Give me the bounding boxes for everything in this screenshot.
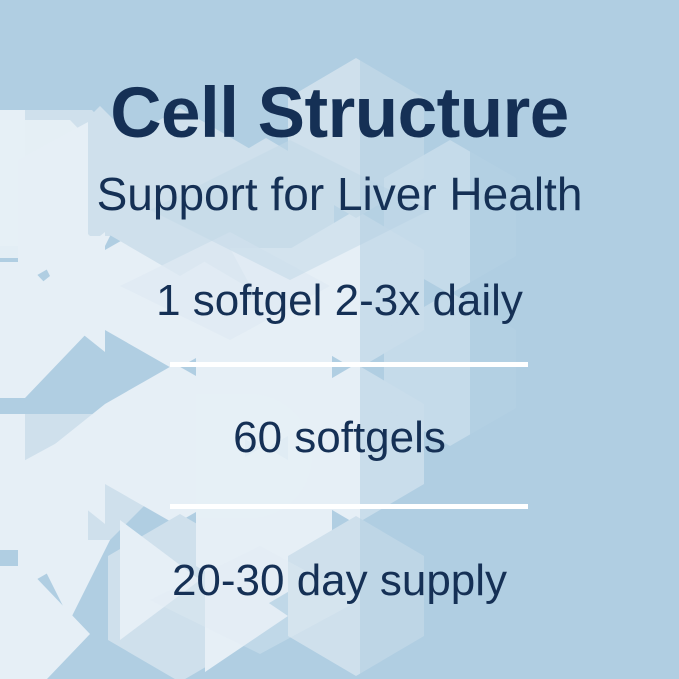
divider-2 bbox=[170, 504, 528, 509]
fact-dosage: 1 softgel 2-3x daily bbox=[156, 279, 523, 323]
page-title: Cell Structure bbox=[110, 78, 569, 149]
page-subtitle: Support for Liver Health bbox=[97, 171, 583, 217]
divider-1 bbox=[170, 362, 528, 367]
fact-count: 60 softgels bbox=[233, 416, 446, 460]
fact-supply: 20-30 day supply bbox=[172, 559, 507, 603]
card-content: Cell Structure Support for Liver Health … bbox=[0, 0, 679, 679]
product-info-card: Cell Structure Support for Liver Health … bbox=[0, 0, 679, 679]
